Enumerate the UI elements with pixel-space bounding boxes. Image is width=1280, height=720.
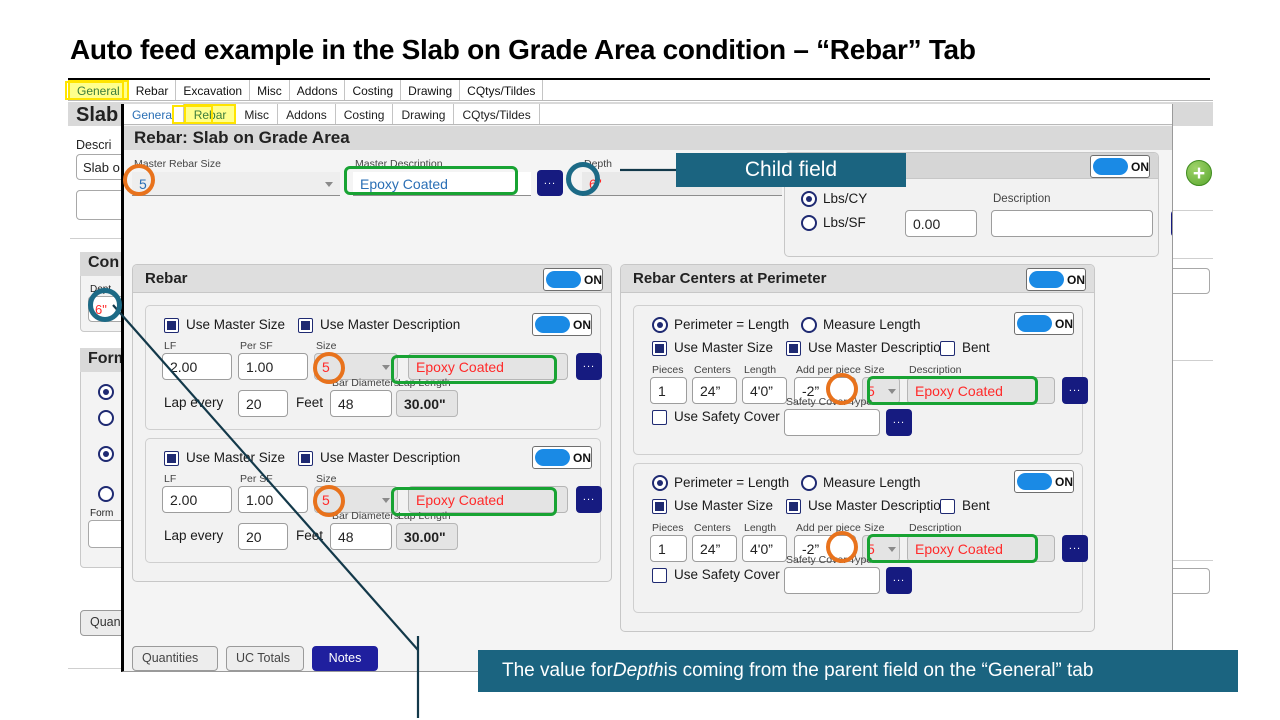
rebar-row-1-bar-diameters-input[interactable]: 48 bbox=[330, 390, 392, 417]
parent-tab-excavation[interactable]: Excavation bbox=[176, 80, 250, 100]
centers-row-1-use-master-description-label: Use Master Description bbox=[808, 340, 948, 355]
lbs-sf-radio[interactable] bbox=[801, 215, 817, 231]
centers-row-2-toggle[interactable]: ON bbox=[1014, 470, 1074, 493]
centers-row-2-use-safety-cover-checkbox[interactable] bbox=[652, 568, 667, 583]
parent-forms-radio-4[interactable] bbox=[98, 486, 114, 502]
rebar-row-2-use-master-size-label: Use Master Size bbox=[186, 450, 285, 465]
centers-row-1-description-input[interactable]: Epoxy Coated bbox=[907, 377, 1055, 404]
add-row-button[interactable]: + bbox=[1186, 160, 1212, 186]
centers-row-1-centers-label: Centers bbox=[694, 364, 731, 376]
centers-row-1-perimeter-label: Perimeter = Length bbox=[674, 317, 789, 332]
lbs-cy-radio[interactable] bbox=[801, 191, 817, 207]
chevron-down-icon bbox=[382, 498, 390, 503]
toggle-knob bbox=[1093, 158, 1128, 175]
centers-row-2-use-master-size-checkbox[interactable] bbox=[652, 499, 667, 514]
page-title: Auto feed example in the Slab on Grade A… bbox=[70, 34, 1130, 66]
centers-row-2-centers-input[interactable]: 24” bbox=[692, 535, 737, 562]
chevron-down-icon bbox=[325, 182, 333, 187]
chevron-down-icon bbox=[888, 547, 896, 552]
tab-misc[interactable]: Misc bbox=[236, 104, 278, 124]
centers-row-2-centers-label: Centers bbox=[694, 522, 731, 534]
rebar-row-2-description-input[interactable]: Epoxy Coated bbox=[408, 486, 568, 513]
rebar-centers-panel-toggle[interactable]: ON bbox=[1026, 268, 1086, 291]
centers-row-2-safety-cover-type-label: Safety Cover Type bbox=[786, 554, 872, 566]
toggle-knob bbox=[1017, 315, 1052, 332]
tab-general[interactable]: General bbox=[124, 104, 184, 124]
plus-icon: + bbox=[1193, 163, 1205, 184]
centers-row-2-length-label: Length bbox=[744, 522, 776, 534]
rebar-row-2-lap-length-label: Lap Length bbox=[398, 510, 451, 522]
footer-uc-totals-button[interactable]: UC Totals bbox=[226, 646, 304, 671]
centers-row-1-use-master-description-checkbox[interactable] bbox=[786, 341, 801, 356]
centers-row-2-bent-label: Bent bbox=[962, 498, 990, 513]
centers-row-2-use-safety-cover-label: Use Safety Cover bbox=[674, 567, 780, 582]
parent-forms-radio-2[interactable] bbox=[98, 410, 114, 426]
centers-row-1-use-safety-cover-checkbox[interactable] bbox=[652, 410, 667, 425]
tab-rebar[interactable]: Rebar bbox=[184, 104, 237, 124]
rebar-row-1-description-browse-button[interactable]: ... bbox=[576, 353, 602, 380]
centers-row-2-measure-radio[interactable] bbox=[801, 475, 817, 491]
rebar-panel-toggle[interactable]: ON bbox=[543, 268, 603, 291]
centers-row-1-bent-label: Bent bbox=[962, 340, 990, 355]
modal-tabbar: General Rebar Misc Addons Costing Drawin… bbox=[124, 104, 1172, 125]
footer-quantities-button[interactable]: Quantities bbox=[132, 646, 218, 671]
tab-costing[interactable]: Costing bbox=[336, 104, 394, 124]
rebar-row-1-per-sf-input[interactable]: 1.00 bbox=[238, 353, 308, 380]
bottom-callout-post: is coming from the parent field on the “… bbox=[664, 660, 1094, 682]
centers-row-1-length-label: Length bbox=[744, 364, 776, 376]
centers-row-2-pieces-input[interactable]: 1 bbox=[650, 535, 687, 562]
parent-depth-label: Dept bbox=[90, 284, 111, 295]
rebar-row-2-use-master-description-checkbox[interactable] bbox=[298, 451, 313, 466]
rebar-row-2-lap-every-label: Lap every bbox=[164, 528, 223, 543]
rebar-row-2-use-master-size-checkbox[interactable] bbox=[164, 451, 179, 466]
parent-forms-radio-1[interactable] bbox=[98, 384, 114, 400]
centers-row-1-bent-checkbox[interactable] bbox=[940, 341, 955, 356]
rebar-centers-panel: Rebar Centers at Perimeter ON Perimeter … bbox=[620, 264, 1095, 632]
tab-drawing[interactable]: Drawing bbox=[393, 104, 454, 124]
parent-tab-general[interactable]: General bbox=[68, 80, 129, 100]
toggle-knob bbox=[1029, 271, 1064, 288]
centers-row-2-pieces-label: Pieces bbox=[652, 522, 684, 534]
centers-row-1-measure-radio[interactable] bbox=[801, 317, 817, 333]
depth-label: Depth bbox=[584, 158, 612, 170]
parent-forms-field-label: Form bbox=[90, 508, 113, 519]
rebar-row-1-lf-label: LF bbox=[164, 340, 176, 352]
rebar-row-2-size-value: 5 bbox=[322, 492, 330, 508]
rebar-row-1-use-master-size-label: Use Master Size bbox=[186, 317, 285, 332]
rebar-row-1-lap-length-value: 30.00" bbox=[396, 390, 458, 417]
rebar-row-1-description-input[interactable]: Epoxy Coated bbox=[408, 353, 568, 380]
centers-row-2-perimeter-radio[interactable] bbox=[652, 475, 668, 491]
parent-tabbar: General Rebar Excavation Misc Addons Cos… bbox=[68, 80, 1213, 101]
rebar-row-2-lf-label: LF bbox=[164, 473, 176, 485]
parent-tabbar-filler bbox=[543, 80, 1213, 100]
rebar-row-1-feet-label: Feet bbox=[296, 395, 323, 410]
rebar-row-1-toggle-label: ON bbox=[573, 318, 591, 332]
parent-tab-addons[interactable]: Addons bbox=[290, 80, 346, 100]
centers-row-2-description-input[interactable]: Epoxy Coated bbox=[907, 535, 1055, 562]
centers-row-1-safety-cover-type-input[interactable] bbox=[784, 409, 880, 436]
centers-row-1-toggle-label: ON bbox=[1055, 317, 1073, 331]
parent-header-title: Slab bbox=[76, 104, 118, 127]
lbs-panel-toggle-label: ON bbox=[1131, 160, 1149, 174]
centers-row-2-length-input[interactable]: 4'0” bbox=[742, 535, 787, 562]
centers-row-1-centers-input[interactable]: 24” bbox=[692, 377, 737, 404]
centers-row-1-perimeter-radio[interactable] bbox=[652, 317, 668, 333]
centers-row-1-pieces-input[interactable]: 1 bbox=[650, 377, 687, 404]
modal-header-title: Rebar: Slab on Grade Area bbox=[134, 128, 350, 148]
rebar-row-1-lf-input[interactable]: 2.00 bbox=[162, 353, 232, 380]
centers-row-2-use-master-description-label: Use Master Description bbox=[808, 498, 948, 513]
rebar-row-2-lap-length-value: 30.00" bbox=[396, 523, 458, 550]
lbs-cy-label: Lbs/CY bbox=[823, 191, 867, 206]
rebar-centers-panel-title: Rebar Centers at Perimeter bbox=[633, 270, 826, 287]
rebar-row-2-per-sf-label: Per SF bbox=[240, 473, 273, 485]
toggle-knob bbox=[1017, 473, 1052, 490]
rebar-row-2-feet-label: Feet bbox=[296, 528, 323, 543]
toggle-knob bbox=[546, 271, 581, 288]
master-rebar-size-label: Master Rebar Size bbox=[134, 158, 221, 170]
lbs-value-input[interactable]: 0.00 bbox=[905, 210, 977, 237]
parent-tab-costing[interactable]: Costing bbox=[345, 80, 401, 100]
toggle-knob bbox=[535, 449, 570, 466]
rebar-row-1: Use Master Size Use Master Description O… bbox=[145, 305, 601, 430]
footer-notes-button[interactable]: Notes bbox=[312, 646, 378, 671]
rebar-row-2-size-label: Size bbox=[316, 473, 336, 485]
rebar-row-1-size-label: Size bbox=[316, 340, 336, 352]
bottom-callout-pre: The value for bbox=[502, 660, 613, 682]
lbs-description-label: Description bbox=[993, 193, 1051, 205]
lbs-description-browse-button[interactable]: ... bbox=[1171, 210, 1173, 237]
toggle-knob bbox=[535, 316, 570, 333]
centers-row-2-size-label: Size bbox=[864, 522, 884, 534]
child-field-callout: Child field bbox=[676, 153, 906, 187]
tab-addons[interactable]: Addons bbox=[278, 104, 336, 124]
centers-row-1-description-label: Description bbox=[909, 364, 962, 376]
rebar-row-2-size-select[interactable]: 5 bbox=[314, 486, 398, 513]
centers-row-1-description-browse-button[interactable]: ... bbox=[1062, 377, 1088, 404]
centers-row-1-use-master-size-label: Use Master Size bbox=[674, 340, 773, 355]
centers-row-2-add-per-piece-label: Add per piece bbox=[796, 522, 861, 534]
rebar-row-2-use-master-description-label: Use Master Description bbox=[320, 450, 460, 465]
master-rebar-size-select[interactable]: 5 bbox=[132, 172, 340, 196]
parent-tab-cqtys-tildes[interactable]: CQtys/Tildes bbox=[460, 80, 543, 100]
rebar-modal: General Rebar Misc Addons Costing Drawin… bbox=[121, 104, 1173, 672]
centers-row-1-use-safety-cover-label: Use Safety Cover bbox=[674, 409, 780, 424]
rebar-row-2-toggle-label: ON bbox=[573, 451, 591, 465]
modal-tabbar-filler bbox=[540, 104, 1172, 124]
rebar-row-2-bar-diameters-label: Bar Diameters bbox=[332, 510, 399, 522]
rebar-panel-toggle-label: ON bbox=[584, 273, 602, 287]
lbs-panel-toggle[interactable]: ON bbox=[1090, 155, 1150, 178]
rebar-row-2: Use Master Size Use Master Description O… bbox=[145, 438, 601, 563]
tab-cqtys-tildes[interactable]: CQtys/Tildes bbox=[454, 104, 539, 124]
centers-row-1-add-per-piece-label: Add per piece bbox=[796, 364, 861, 376]
centers-row-1-toggle[interactable]: ON bbox=[1014, 312, 1074, 335]
rebar-row-1-lap-length-label: Lap Length bbox=[398, 377, 451, 389]
rebar-row-1-use-master-description-label: Use Master Description bbox=[320, 317, 460, 332]
rebar-panel: Rebar ON Use Master Size Use Master Desc… bbox=[132, 264, 612, 582]
centers-row-1-safety-cover-type-label: Safety Cover Type bbox=[786, 396, 872, 408]
centers-row-1: Perimeter = Length Measure Length ON Use… bbox=[633, 305, 1083, 455]
centers-row-2-use-master-size-label: Use Master Size bbox=[674, 498, 773, 513]
parent-description-label: Descri bbox=[76, 138, 111, 152]
centers-row-1-pieces-label: Pieces bbox=[652, 364, 684, 376]
centers-row-2-safety-cover-type-input[interactable] bbox=[784, 567, 880, 594]
centers-row-2-perimeter-label: Perimeter = Length bbox=[674, 475, 789, 490]
rebar-row-1-use-master-description-checkbox[interactable] bbox=[298, 318, 313, 333]
parent-tab-rebar[interactable]: Rebar bbox=[129, 80, 177, 100]
master-rebar-size-value: 5 bbox=[139, 176, 147, 192]
rebar-row-2-lap-every-input[interactable]: 20 bbox=[238, 523, 288, 550]
master-description-input[interactable]: Epoxy Coated bbox=[353, 172, 531, 196]
parent-tab-drawing[interactable]: Drawing bbox=[401, 80, 460, 100]
centers-row-2-measure-label: Measure Length bbox=[823, 475, 921, 490]
rebar-row-1-lap-every-input[interactable]: 20 bbox=[238, 390, 288, 417]
centers-row-1-length-input[interactable]: 4'0” bbox=[742, 377, 787, 404]
bottom-callout-emphasis: Depth bbox=[613, 660, 664, 682]
centers-row-2: Perimeter = Length Measure Length ON Use… bbox=[633, 463, 1083, 613]
lbs-sf-label: Lbs/SF bbox=[823, 215, 866, 230]
rebar-row-1-size-select[interactable]: 5 bbox=[314, 353, 398, 380]
chevron-down-icon bbox=[382, 365, 390, 370]
master-description-label: Master Description bbox=[355, 158, 443, 170]
centers-row-2-bent-checkbox[interactable] bbox=[940, 499, 955, 514]
centers-row-2-use-master-description-checkbox[interactable] bbox=[786, 499, 801, 514]
parent-forms-radio-3[interactable] bbox=[98, 446, 114, 462]
centers-row-1-measure-label: Measure Length bbox=[823, 317, 921, 332]
rebar-row-2-bar-diameters-input[interactable]: 48 bbox=[330, 523, 392, 550]
centers-row-2-safety-cover-browse-button[interactable]: ... bbox=[886, 567, 912, 594]
centers-row-1-size-label: Size bbox=[864, 364, 884, 376]
rebar-row-1-use-master-size-checkbox[interactable] bbox=[164, 318, 179, 333]
bottom-callout: The value for Depth is coming from the p… bbox=[478, 650, 1238, 692]
centers-row-1-safety-cover-browse-button[interactable]: ... bbox=[886, 409, 912, 436]
rebar-panel-title: Rebar bbox=[145, 270, 188, 287]
rebar-row-1-toggle[interactable]: ON bbox=[532, 313, 592, 336]
rebar-row-1-bar-diameters-label: Bar Diameters bbox=[332, 377, 399, 389]
chevron-down-icon bbox=[888, 389, 896, 394]
rebar-row-1-lap-every-label: Lap every bbox=[164, 395, 223, 410]
master-description-browse-button[interactable]: ... bbox=[537, 170, 563, 196]
rebar-centers-panel-toggle-label: ON bbox=[1067, 273, 1085, 287]
lbs-description-input[interactable] bbox=[991, 210, 1153, 237]
rebar-row-2-description-browse-button[interactable]: ... bbox=[576, 486, 602, 513]
rebar-row-2-lf-input[interactable]: 2.00 bbox=[162, 486, 232, 513]
rebar-row-2-per-sf-input[interactable]: 1.00 bbox=[238, 486, 308, 513]
rebar-row-1-per-sf-label: Per SF bbox=[240, 340, 273, 352]
centers-row-2-description-label: Description bbox=[909, 522, 962, 534]
centers-row-1-use-master-size-checkbox[interactable] bbox=[652, 341, 667, 356]
centers-row-2-toggle-label: ON bbox=[1055, 475, 1073, 489]
rebar-row-1-size-value: 5 bbox=[322, 359, 330, 375]
rebar-row-2-toggle[interactable]: ON bbox=[532, 446, 592, 469]
centers-row-2-description-browse-button[interactable]: ... bbox=[1062, 535, 1088, 562]
parent-tab-misc[interactable]: Misc bbox=[250, 80, 290, 100]
rebar-panel-header bbox=[133, 265, 611, 293]
